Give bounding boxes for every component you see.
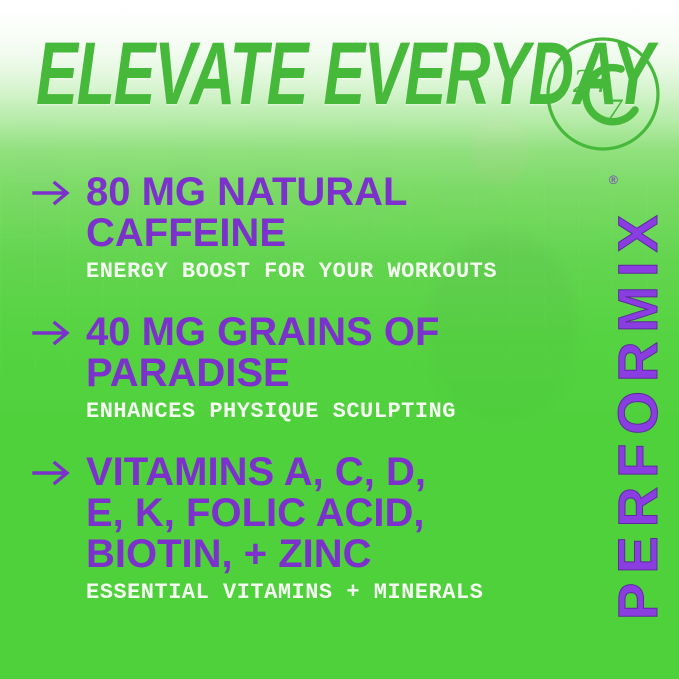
arrow-right-icon: [30, 178, 74, 208]
arrow-right-icon: [30, 318, 74, 348]
benefit-item-vitamins: VITAMINS A, C, D, E, K, FOLIC ACID, BIOT…: [30, 452, 560, 605]
brand-logo-vertical: PERFORMIX ®: [601, 168, 675, 658]
benefit-subtitle: ENERGY BOOST FOR YOUR WORKOUTS: [86, 260, 560, 284]
benefit-subtitle: ESSENTIAL VITAMINS + MINERALS: [86, 581, 560, 605]
benefit-item-grains-of-paradise: 40 MG GRAINS OF PARADISE ENHANCES PHYSIQ…: [30, 312, 560, 424]
benefit-item-caffeine: 80 MG NATURAL CAFFEINE ENERGY BOOST FOR …: [30, 172, 560, 284]
badge-top-number: 24: [573, 63, 607, 100]
registered-trademark-icon: ®: [609, 174, 618, 186]
benefit-title: VITAMINS A, C, D, E, K, FOLIC ACID, BIOT…: [86, 452, 560, 575]
badge-24-7: 24 7: [545, 36, 661, 152]
brand-name: PERFORMIX: [610, 206, 666, 620]
badge-inner-number: 7: [607, 93, 624, 126]
benefits-list: 80 MG NATURAL CAFFEINE ENERGY BOOST FOR …: [30, 172, 560, 605]
benefit-title: 40 MG GRAINS OF PARADISE: [86, 312, 560, 394]
benefit-title: 80 MG NATURAL CAFFEINE: [86, 172, 560, 254]
product-benefits-poster: ELEVATE EVERYDAY 24 7 80 MG NATURAL CAFF…: [0, 0, 679, 679]
arrow-right-icon: [30, 458, 74, 488]
benefit-subtitle: ENHANCES PHYSIQUE SCULPTING: [86, 400, 560, 424]
